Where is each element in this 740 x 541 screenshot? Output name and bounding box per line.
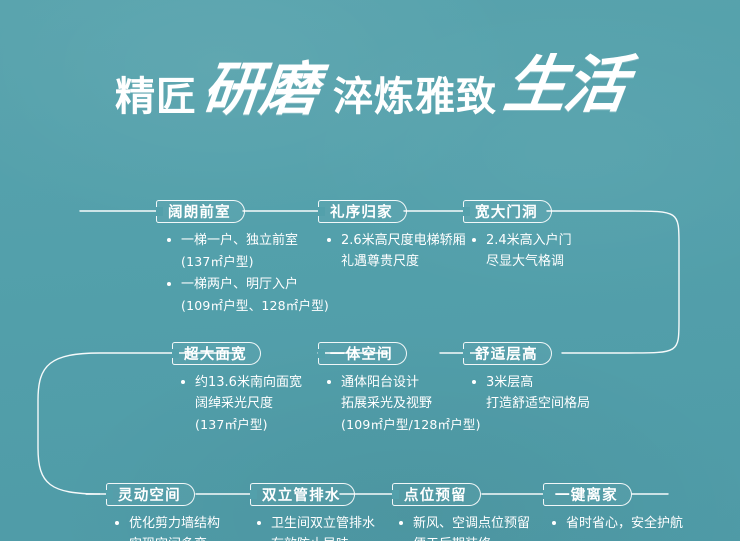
list-item: 一梯两户、明厅入户 (109㎡户型、128㎡户型) xyxy=(166,274,329,316)
card-title-label: 一键离家 xyxy=(555,484,618,505)
list-item: 一梯一户、独立前室 (137㎡户型) xyxy=(166,230,329,272)
bullet-line: 实现空间多变 xyxy=(129,534,220,541)
bullet-line: 2.6米高尺度电梯轿厢 xyxy=(341,230,466,251)
bullet-dot-icon xyxy=(472,238,476,242)
bullet-line: 打造舒适空间格局 xyxy=(486,393,590,414)
bullet-dot-icon xyxy=(327,238,331,242)
card-title-label: 阔朗前室 xyxy=(168,201,231,222)
bullet-line: (109㎡户型、128㎡户型) xyxy=(181,295,329,316)
card-body-yijianlijia: 省时省心，安全护航 xyxy=(551,513,683,536)
list-item: 3米层高 打造舒适空间格局 xyxy=(471,372,590,414)
rail-left-uturn xyxy=(38,353,172,494)
bullet-line: 3米层高 xyxy=(486,372,590,393)
card-body-chaodamiankuan: 约13.6米南向面宽 阔绰采光尺度 (137㎡户型) xyxy=(180,372,302,437)
bullet-line: 通体阳台设计 xyxy=(341,372,481,393)
bullet-line: 拓展采光及视野 xyxy=(341,393,481,414)
card-title-chaodamiankuan[interactable]: 超大面宽 xyxy=(172,342,261,365)
card-body-lixuguijia: 2.6米高尺度电梯轿厢 礼遇尊贵尺度 xyxy=(326,230,466,274)
card-body-shuanglibanpaishui: 卫生间双立管排水 有效防止异味 xyxy=(256,513,375,541)
bullet-line: 约13.6米南向面宽 xyxy=(195,372,302,393)
card-title-label: 点位预留 xyxy=(404,484,467,505)
bullet-line: 尽显大气格调 xyxy=(486,251,572,272)
card-title-kuandamendong[interactable]: 宽大门洞 xyxy=(463,200,552,223)
card-title-label: 一体空间 xyxy=(330,343,393,364)
bullet-line: 省时省心，安全护航 xyxy=(566,513,683,534)
card-title-yijianlijia[interactable]: 一键离家 xyxy=(543,483,632,506)
list-item: 通体阳台设计 拓展采光及视野 (109㎡户型/128㎡户型) xyxy=(326,372,481,435)
list-item: 2.6米高尺度电梯轿厢 礼遇尊贵尺度 xyxy=(326,230,466,272)
bullet-line: 一梯两户、明厅入户 xyxy=(181,274,329,295)
page-title: 精匠 研磨 淬炼雅致 生活 xyxy=(0,36,740,146)
card-body-dianweiyuliu: 新风、空调点位预留 便于后期装修 xyxy=(398,513,530,541)
card-title-lixuguijia[interactable]: 礼序归家 xyxy=(318,200,407,223)
bullet-line: 新风、空调点位预留 xyxy=(413,513,530,534)
list-item: 优化剪力墙结构 实现空间多变 xyxy=(114,513,220,541)
bullet-dot-icon xyxy=(257,521,261,525)
bullet-line: 2.4米高入户门 xyxy=(486,230,572,251)
card-title-label: 双立管排水 xyxy=(262,484,341,505)
headline-segment-4: 生活 xyxy=(501,54,630,116)
bullet-dot-icon xyxy=(399,521,403,525)
headline-segment-1: 精匠 xyxy=(115,77,197,117)
card-title-yitikongjian[interactable]: 一体空间 xyxy=(318,342,407,365)
card-title-label: 礼序归家 xyxy=(330,201,393,222)
bullet-dot-icon xyxy=(552,521,556,525)
list-item: 省时省心，安全护航 xyxy=(551,513,683,534)
bullet-dot-icon xyxy=(327,380,331,384)
poster-root: 精匠 研磨 淬炼雅致 生活 阔朗前室 xyxy=(0,0,740,541)
list-item: 2.4米高入户门 尽显大气格调 xyxy=(471,230,572,272)
bullet-line: 卫生间双立管排水 xyxy=(271,513,375,534)
bullet-line: 优化剪力墙结构 xyxy=(129,513,220,534)
bullet-dot-icon xyxy=(181,380,185,384)
bullet-line: 阔绰采光尺度 xyxy=(195,393,302,414)
bullet-line: (137㎡户型) xyxy=(195,414,302,435)
bullet-dot-icon xyxy=(167,282,171,286)
card-body-kuandamendong: 2.4米高入户门 尽显大气格调 xyxy=(471,230,572,274)
card-title-kuolangqianshi[interactable]: 阔朗前室 xyxy=(156,200,245,223)
bullet-line: 有效防止异味 xyxy=(271,534,375,541)
headline-segment-3: 淬炼雅致 xyxy=(333,77,497,117)
bullet-dot-icon xyxy=(167,238,171,242)
bullet-line: (109㎡户型/128㎡户型) xyxy=(341,414,481,435)
bullet-line: 礼遇尊贵尺度 xyxy=(341,251,466,272)
bullet-line: 便于后期装修 xyxy=(413,534,530,541)
card-title-label: 灵动空间 xyxy=(118,484,181,505)
card-title-shuanglibanpaishui[interactable]: 双立管排水 xyxy=(250,483,355,506)
card-title-shushicenggao[interactable]: 舒适层高 xyxy=(463,342,552,365)
bullet-dot-icon xyxy=(472,380,476,384)
bullet-dot-icon xyxy=(115,521,119,525)
headline-segment-2: 研磨 xyxy=(200,60,320,118)
card-title-dianweiyuliu[interactable]: 点位预留 xyxy=(392,483,481,506)
card-body-shushicenggao: 3米层高 打造舒适空间格局 xyxy=(471,372,590,416)
card-title-label: 舒适层高 xyxy=(475,343,538,364)
bullet-line: (137㎡户型) xyxy=(181,251,329,272)
card-title-label: 超大面宽 xyxy=(184,343,247,364)
list-item: 卫生间双立管排水 有效防止异味 xyxy=(256,513,375,541)
card-title-lingdongkongjian[interactable]: 灵动空间 xyxy=(106,483,195,506)
list-item: 约13.6米南向面宽 阔绰采光尺度 (137㎡户型) xyxy=(180,372,302,435)
bullet-line: 一梯一户、独立前室 xyxy=(181,230,329,251)
list-item: 新风、空调点位预留 便于后期装修 xyxy=(398,513,530,541)
card-body-kuolangqianshi: 一梯一户、独立前室 (137㎡户型) 一梯两户、明厅入户 (109㎡户型、128… xyxy=(166,230,329,318)
card-body-lingdongkongjian: 优化剪力墙结构 实现空间多变 xyxy=(114,513,220,541)
card-body-yitikongjian: 通体阳台设计 拓展采光及视野 (109㎡户型/128㎡户型) xyxy=(326,372,481,437)
card-title-label: 宽大门洞 xyxy=(475,201,538,222)
